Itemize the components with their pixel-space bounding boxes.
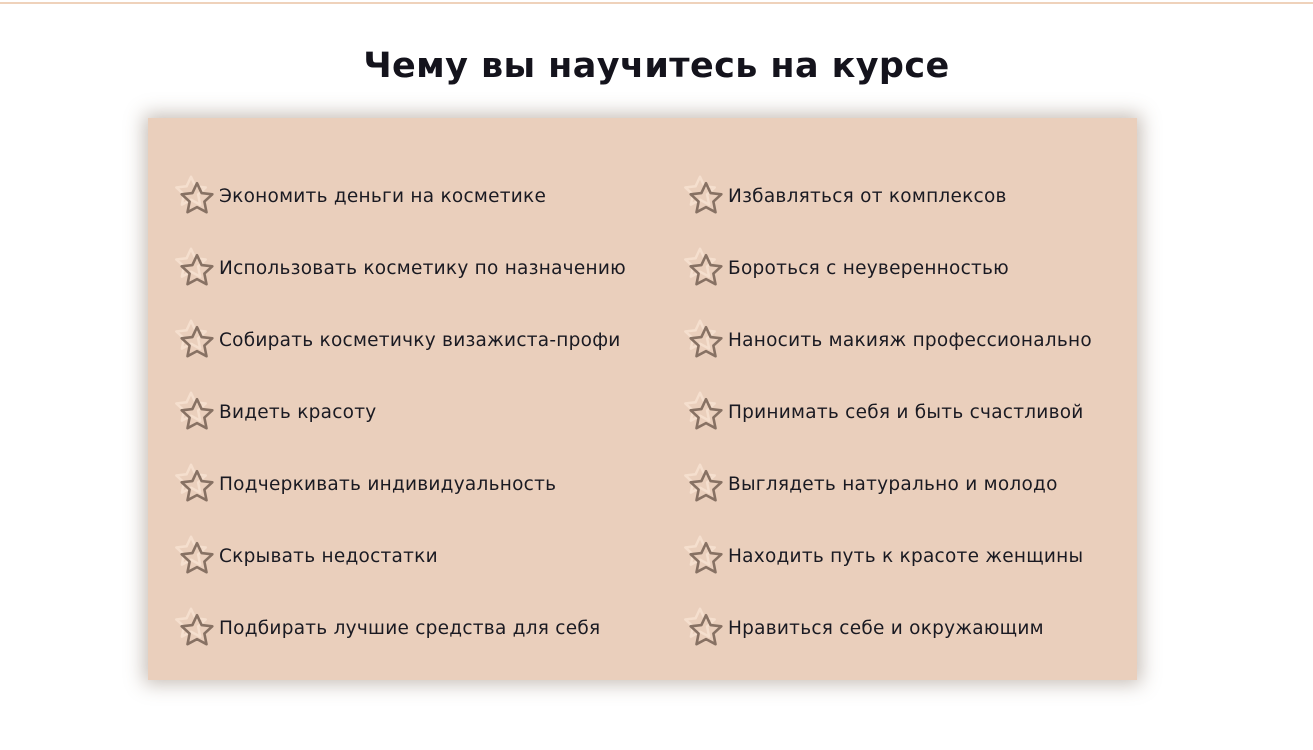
list-item-label: Наносить макияж профессионально [728, 332, 1092, 352]
list-item-label: Избавляться от комплексов [728, 188, 1007, 208]
outcomes-column-right: Избавляться от комплексов Бороться с неу… [687, 162, 1127, 666]
star-outline-icon [178, 179, 216, 217]
list-item-label: Использовать косметику по назначению [219, 260, 626, 280]
star-outline-icon [178, 395, 216, 433]
star-outline-icon [687, 395, 725, 433]
list-item-label: Выглядеть натурально и молодо [728, 476, 1058, 496]
list-item: Подбирать лучшие средства для себя [178, 594, 648, 666]
list-item: Наносить макияж профессионально [687, 306, 1127, 378]
list-item-label: Находить путь к красоте женщины [728, 548, 1083, 568]
star-outline-icon [687, 539, 725, 577]
outcomes-columns: Экономить деньги на косметике Использова… [148, 118, 1137, 680]
outcomes-column-left: Экономить деньги на косметике Использова… [178, 162, 648, 666]
star-outline-icon [178, 251, 216, 289]
list-item: Использовать косметику по назначению [178, 234, 648, 306]
star-outline-icon [687, 323, 725, 361]
star-outline-icon [178, 539, 216, 577]
list-item-label: Собирать косметичку визажиста-профи [219, 332, 621, 352]
list-item: Принимать себя и быть счастливой [687, 378, 1127, 450]
page-title: Чему вы научитесь на курсе [0, 46, 1313, 86]
list-item-label: Экономить деньги на косметике [219, 188, 546, 208]
list-item: Скрывать недостатки [178, 522, 648, 594]
top-divider-rule [0, 2, 1313, 4]
list-item: Экономить деньги на косметике [178, 162, 648, 234]
list-item: Находить путь к красоте женщины [687, 522, 1127, 594]
list-item: Выглядеть натурально и молодо [687, 450, 1127, 522]
learning-outcomes-panel: Экономить деньги на косметике Использова… [148, 118, 1137, 680]
star-outline-icon [687, 251, 725, 289]
list-item: Нравиться себе и окружающим [687, 594, 1127, 666]
star-outline-icon [687, 467, 725, 505]
list-item-label: Подбирать лучшие средства для себя [219, 620, 600, 640]
list-item: Бороться с неуверенностью [687, 234, 1127, 306]
star-outline-icon [687, 179, 725, 217]
star-outline-icon [687, 611, 725, 649]
list-item-label: Нравиться себе и окружающим [728, 620, 1044, 640]
list-item: Избавляться от комплексов [687, 162, 1127, 234]
star-outline-icon [178, 467, 216, 505]
slide: Чему вы научитесь на курсе Экономить ден… [0, 0, 1313, 750]
list-item: Собирать косметичку визажиста-профи [178, 306, 648, 378]
list-item: Видеть красоту [178, 378, 648, 450]
list-item-label: Видеть красоту [219, 404, 376, 424]
list-item-label: Бороться с неуверенностью [728, 260, 1009, 280]
star-outline-icon [178, 323, 216, 361]
star-outline-icon [178, 611, 216, 649]
list-item-label: Принимать себя и быть счастливой [728, 404, 1084, 424]
list-item-label: Подчеркивать индивидуальность [219, 476, 556, 496]
list-item-label: Скрывать недостатки [219, 548, 438, 568]
list-item: Подчеркивать индивидуальность [178, 450, 648, 522]
